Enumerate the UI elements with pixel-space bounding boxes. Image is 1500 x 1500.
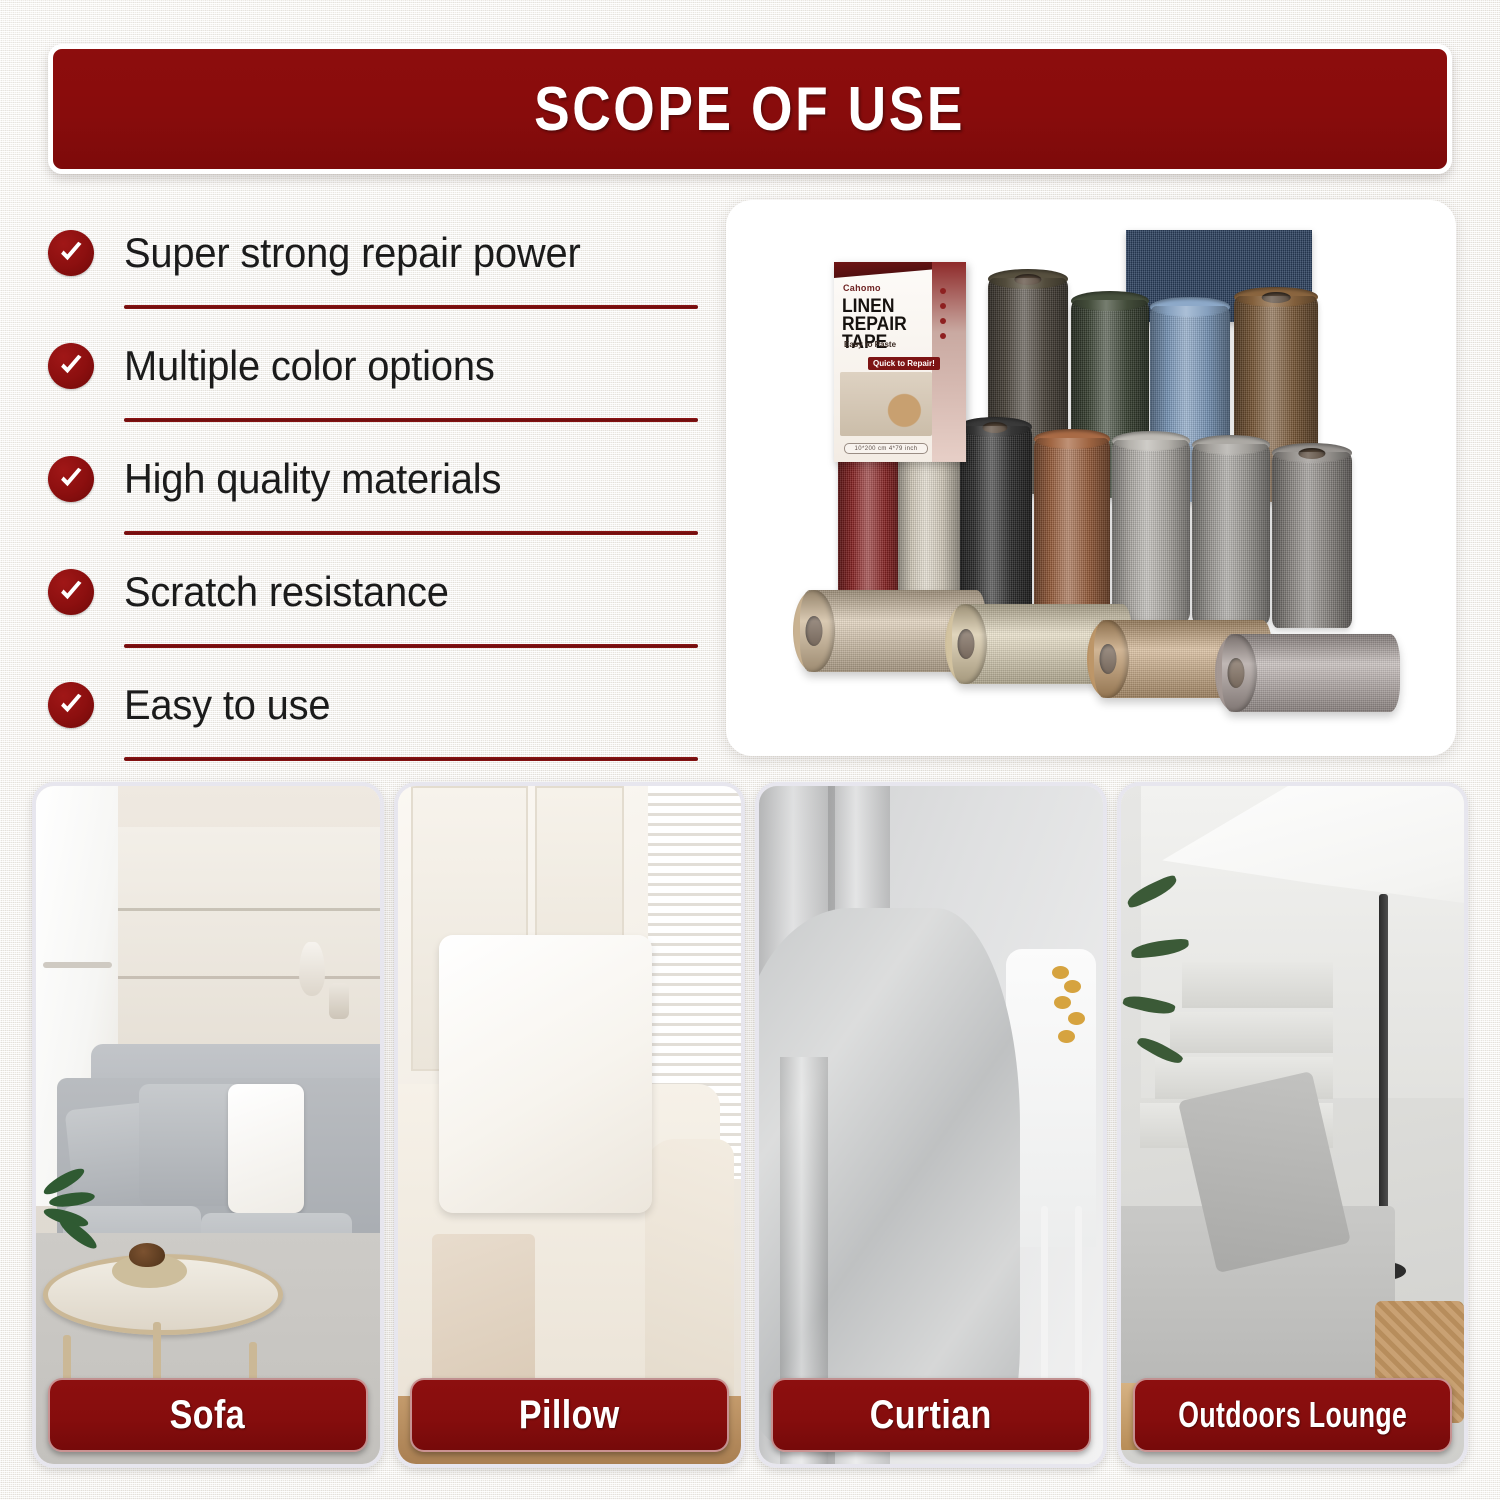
light-gray-roll (1112, 440, 1190, 622)
sofa-scene-image (36, 786, 380, 1464)
box-tag-paste: Easy to Paste (844, 340, 896, 349)
page-title: SCOPE OF USE (535, 74, 966, 145)
panel-label-sofa: Sofa (48, 1378, 368, 1452)
mauve-lying-roll (1222, 634, 1400, 712)
brand-logo: Cahomo (843, 283, 881, 293)
feature-label: Scratch resistance (124, 568, 449, 616)
infographic-page: SCOPE OF USE Super strong repair power M… (0, 0, 1500, 1500)
panel-outdoors-lounge[interactable]: Outdoors Lounge (1117, 782, 1469, 1468)
warm-gray-roll (1272, 452, 1352, 628)
box-tag-repair: Quick to Repair! (868, 357, 940, 370)
product-box: Cahomo LINEN REPAIR TAPE Easy to Paste Q… (834, 262, 966, 462)
terracotta-roll (1034, 438, 1110, 620)
black-roll (958, 426, 1032, 616)
curtain-scene-image (759, 786, 1103, 1464)
title-banner: SCOPE OF USE (48, 44, 1452, 174)
feature-item-1: Super strong repair power (48, 196, 698, 309)
feature-list: Super strong repair power Multiple color… (48, 196, 698, 762)
product-image-card: Cahomo LINEN REPAIR TAPE Easy to Paste Q… (726, 200, 1456, 756)
panel-sofa[interactable]: Sofa (32, 782, 384, 1468)
check-icon (48, 682, 94, 728)
feature-label: Multiple color options (124, 342, 495, 390)
outdoor-scene-image (1121, 786, 1465, 1464)
box-product-photo (840, 372, 932, 436)
scene-panel-grid: Sofa Pillow (32, 782, 1468, 1468)
feature-label: Super strong repair power (124, 229, 581, 277)
feature-item-3: High quality materials (48, 422, 698, 535)
check-icon (48, 230, 94, 276)
box-size-text: 10*200 cm 4*79 inch (844, 443, 928, 454)
panel-label-curtain: Curtian (771, 1378, 1091, 1452)
box-feature-dots (940, 288, 946, 339)
check-icon (48, 456, 94, 502)
panel-label-text: Pillow (519, 1393, 620, 1438)
panel-label-text: Outdoors Lounge (1178, 1394, 1407, 1436)
feature-item-2: Multiple color options (48, 309, 698, 422)
panel-label-text: Curtian (870, 1393, 992, 1438)
check-icon (48, 343, 94, 389)
feature-label: Easy to use (124, 681, 330, 729)
pillow-scene-image (398, 786, 742, 1464)
feature-divider (124, 757, 698, 761)
panel-label-outdoors-lounge: Outdoors Lounge (1133, 1378, 1453, 1452)
panel-label-text: Sofa (170, 1393, 245, 1438)
feature-item-5: Easy to use (48, 648, 698, 761)
check-icon (48, 569, 94, 615)
panel-curtain[interactable]: Curtian (755, 782, 1107, 1468)
feature-item-4: Scratch resistance (48, 535, 698, 648)
gray-roll (1192, 444, 1270, 624)
panel-pillow[interactable]: Pillow (394, 782, 746, 1468)
panel-label-pillow: Pillow (410, 1378, 730, 1452)
feature-label: High quality materials (124, 455, 501, 503)
product-photo: Cahomo LINEN REPAIR TAPE Easy to Paste Q… (726, 200, 1456, 756)
